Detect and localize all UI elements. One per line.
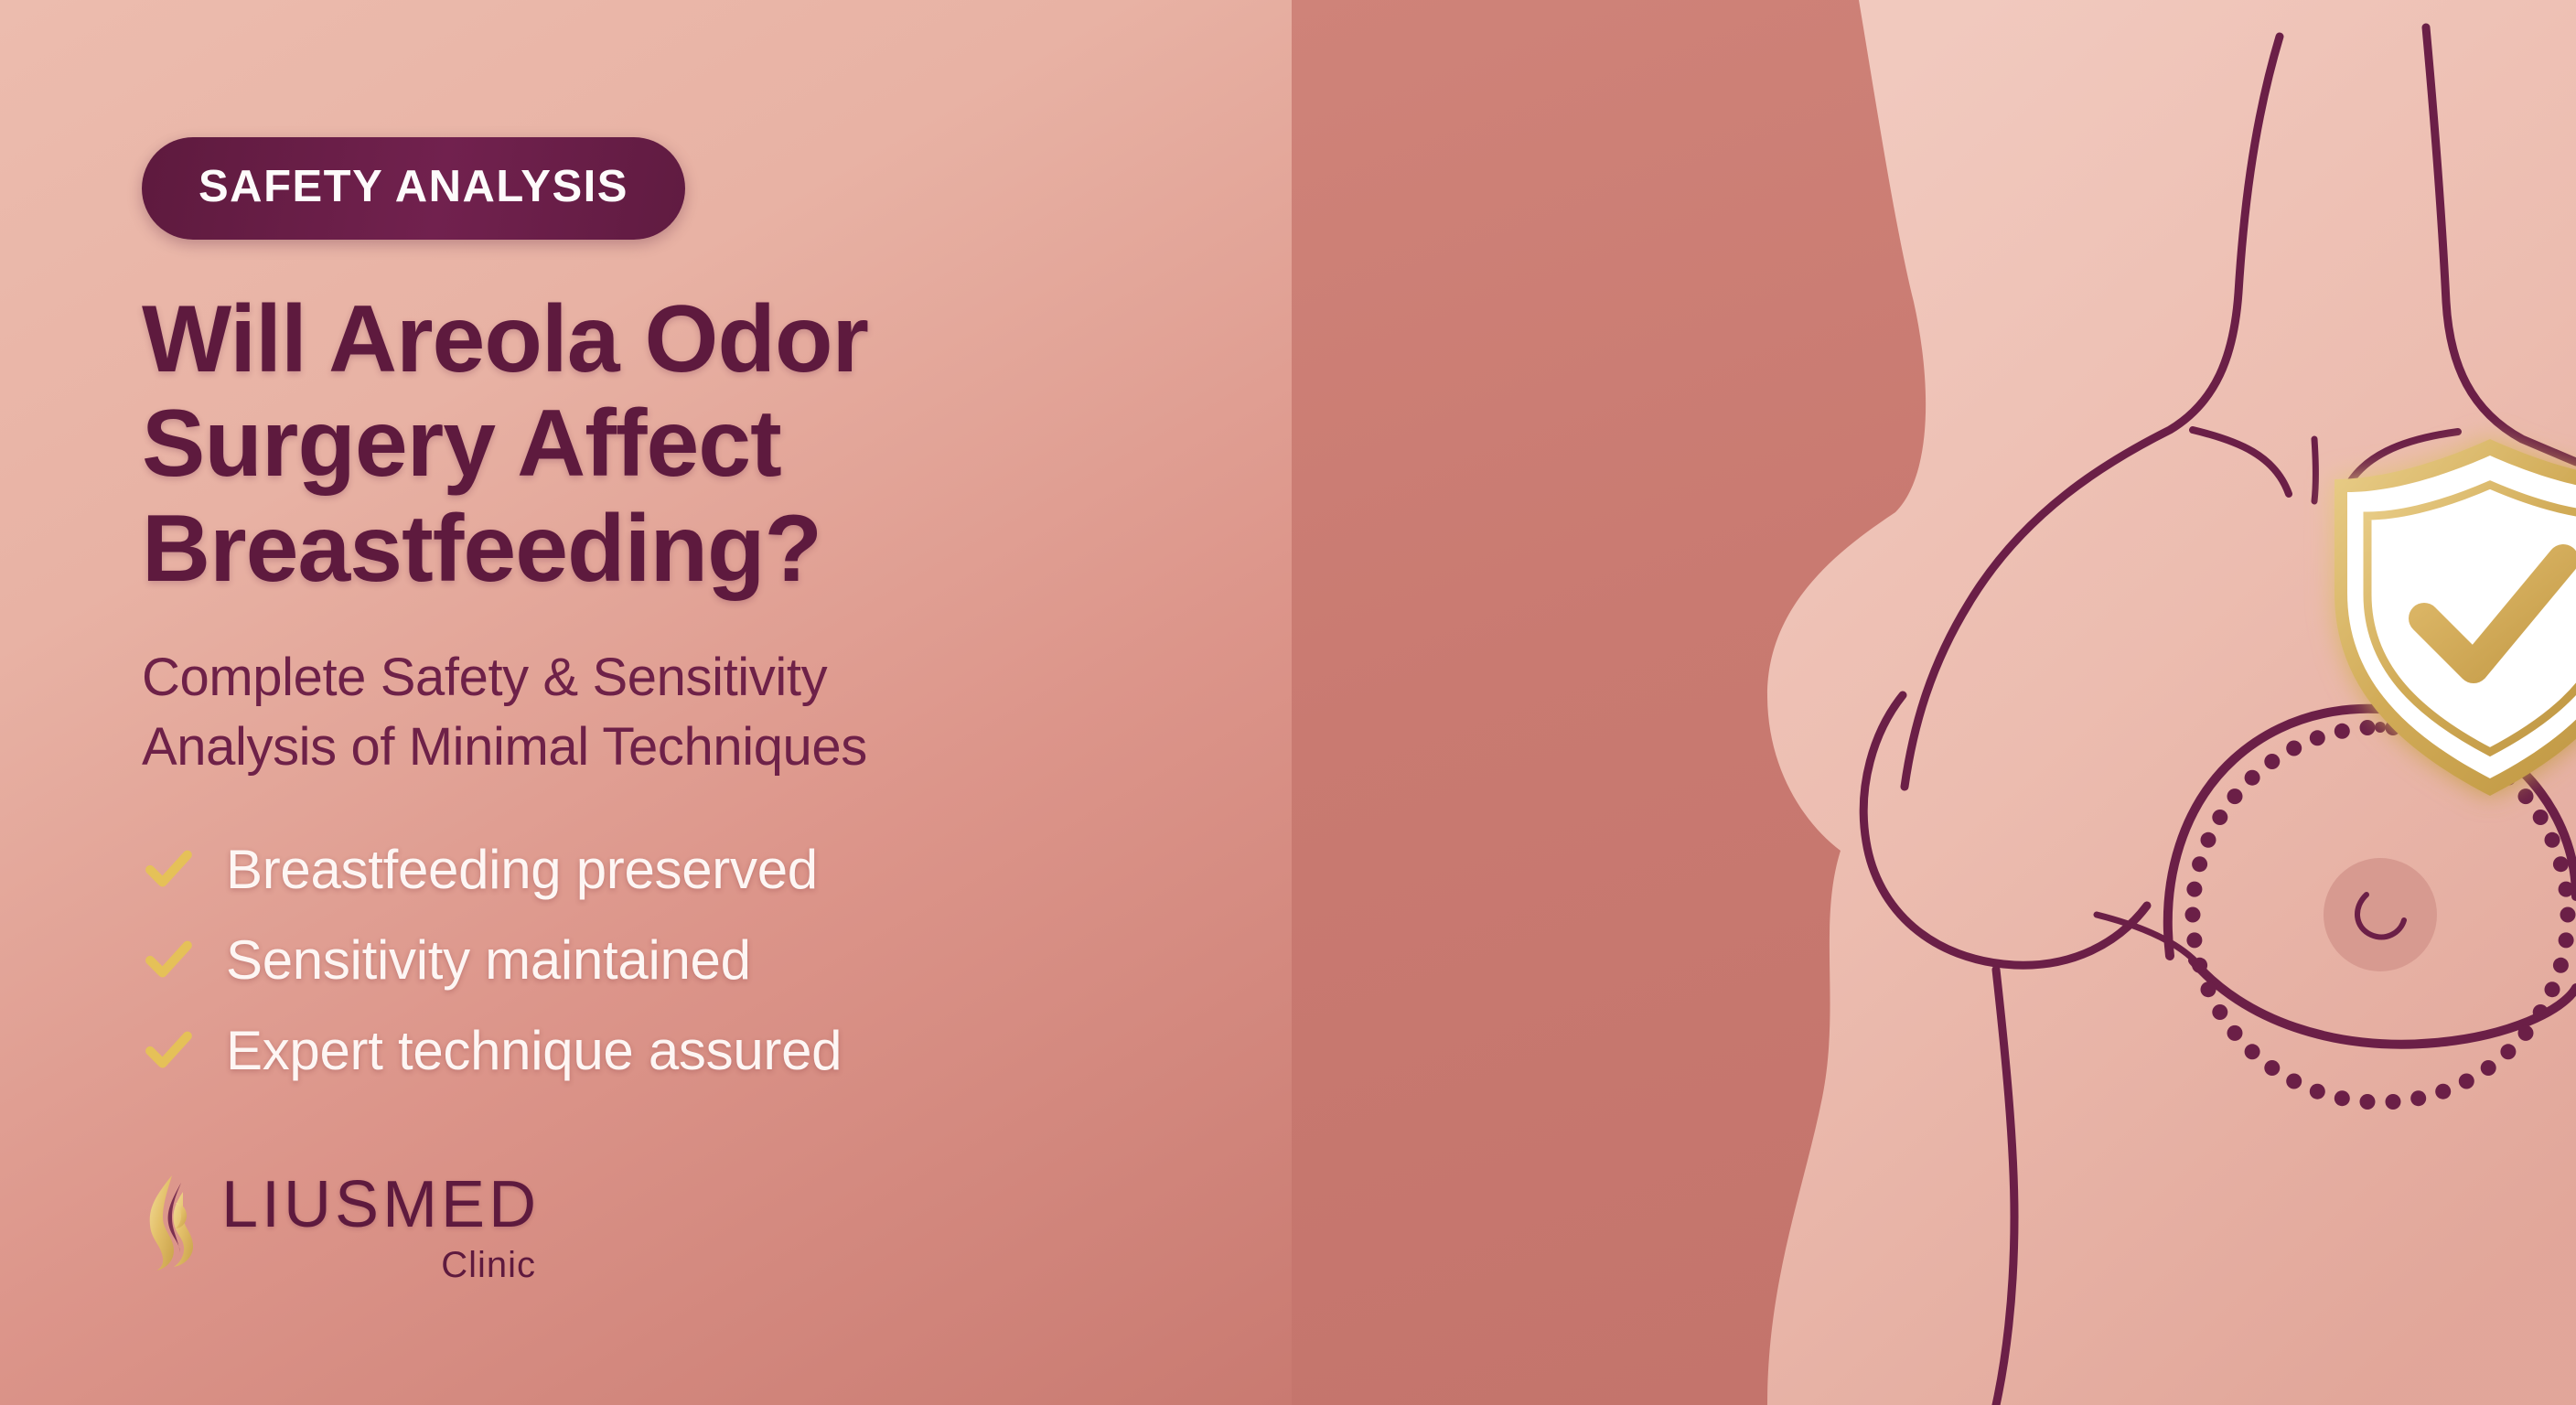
areola-disc [2324, 858, 2437, 971]
headline-line-3: Breastfeeding? [142, 497, 1203, 601]
headline-line-2: Surgery Affect [142, 391, 1203, 496]
safety-analysis-badge: SAFETY ANALYSIS [142, 137, 685, 240]
subtitle-line-2: Analysis of Minimal Techniques [142, 713, 1194, 781]
list-item: Sensitivity maintained [142, 928, 1292, 992]
list-item: Expert technique assured [142, 1019, 1292, 1082]
female-torso-line-art [1292, 0, 2576, 1405]
headline-line-1: Will Areola Odor [142, 287, 1203, 391]
promo-banner: SAFETY ANALYSIS Will Areola Odor Surgery… [0, 0, 2576, 1405]
list-item-label: Expert technique assured [226, 1019, 842, 1082]
brand-name: LIUSMED [221, 1172, 540, 1238]
brand-logo: LIUSMED Clinic [135, 1172, 540, 1286]
subtitle-line-1: Complete Safety & Sensitivity [142, 643, 1194, 712]
logo-text-group: LIUSMED Clinic [221, 1172, 540, 1286]
check-icon [142, 1024, 195, 1077]
illustration-panel [1292, 0, 2576, 1405]
list-item: Breastfeeding preserved [142, 838, 1292, 901]
check-icon [142, 933, 195, 986]
check-icon [142, 842, 195, 896]
brand-tagline: Clinic [441, 1245, 536, 1286]
list-item-label: Breastfeeding preserved [226, 838, 818, 901]
page-subtitle: Complete Safety & Sensitivity Analysis o… [142, 643, 1194, 781]
left-content-panel: SAFETY ANALYSIS Will Areola Odor Surgery… [0, 0, 1292, 1405]
list-item-label: Sensitivity maintained [226, 928, 751, 992]
flame-face-icon [135, 1172, 201, 1272]
page-title: Will Areola Odor Surgery Affect Breastfe… [142, 287, 1203, 601]
benefits-checklist: Breastfeeding preserved Sensitivity main… [142, 838, 1292, 1082]
